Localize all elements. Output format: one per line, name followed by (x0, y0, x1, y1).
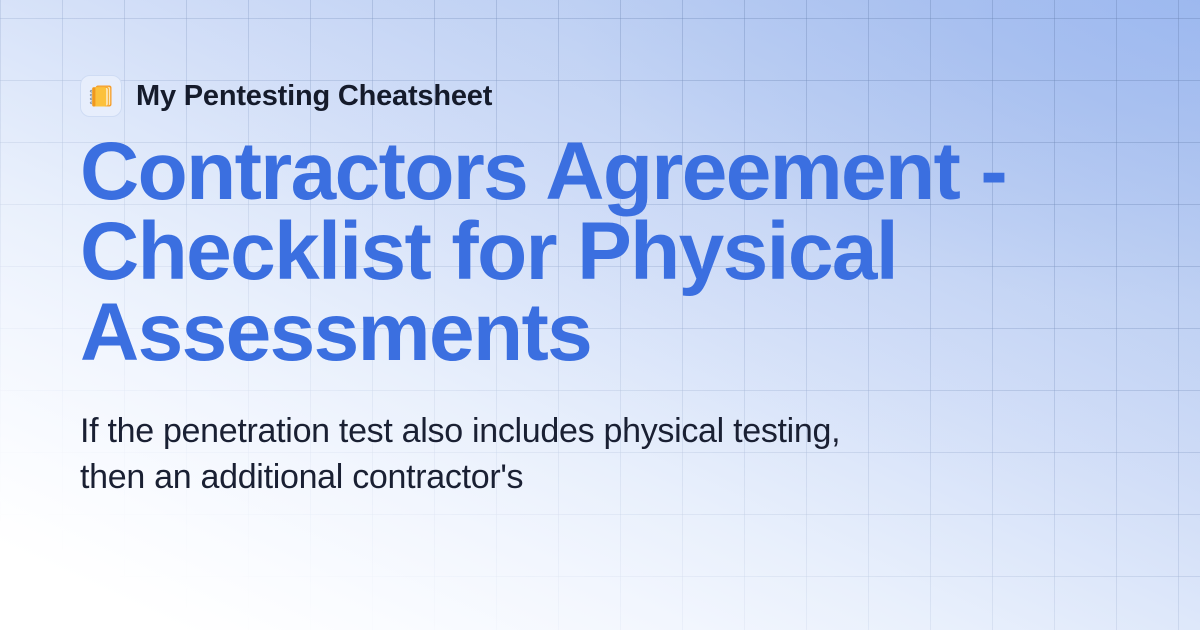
brand-title: My Pentesting Cheatsheet (136, 80, 492, 113)
notebook-icon (80, 75, 122, 117)
og-card: My Pentesting Cheatsheet Contractors Agr… (0, 0, 1200, 630)
brand-row: My Pentesting Cheatsheet (80, 74, 1130, 118)
page-description: If the penetration test also includes ph… (80, 409, 860, 500)
page-title: Contractors Agreement - Checklist for Ph… (80, 132, 1100, 373)
card-content: My Pentesting Cheatsheet Contractors Agr… (80, 74, 1130, 500)
